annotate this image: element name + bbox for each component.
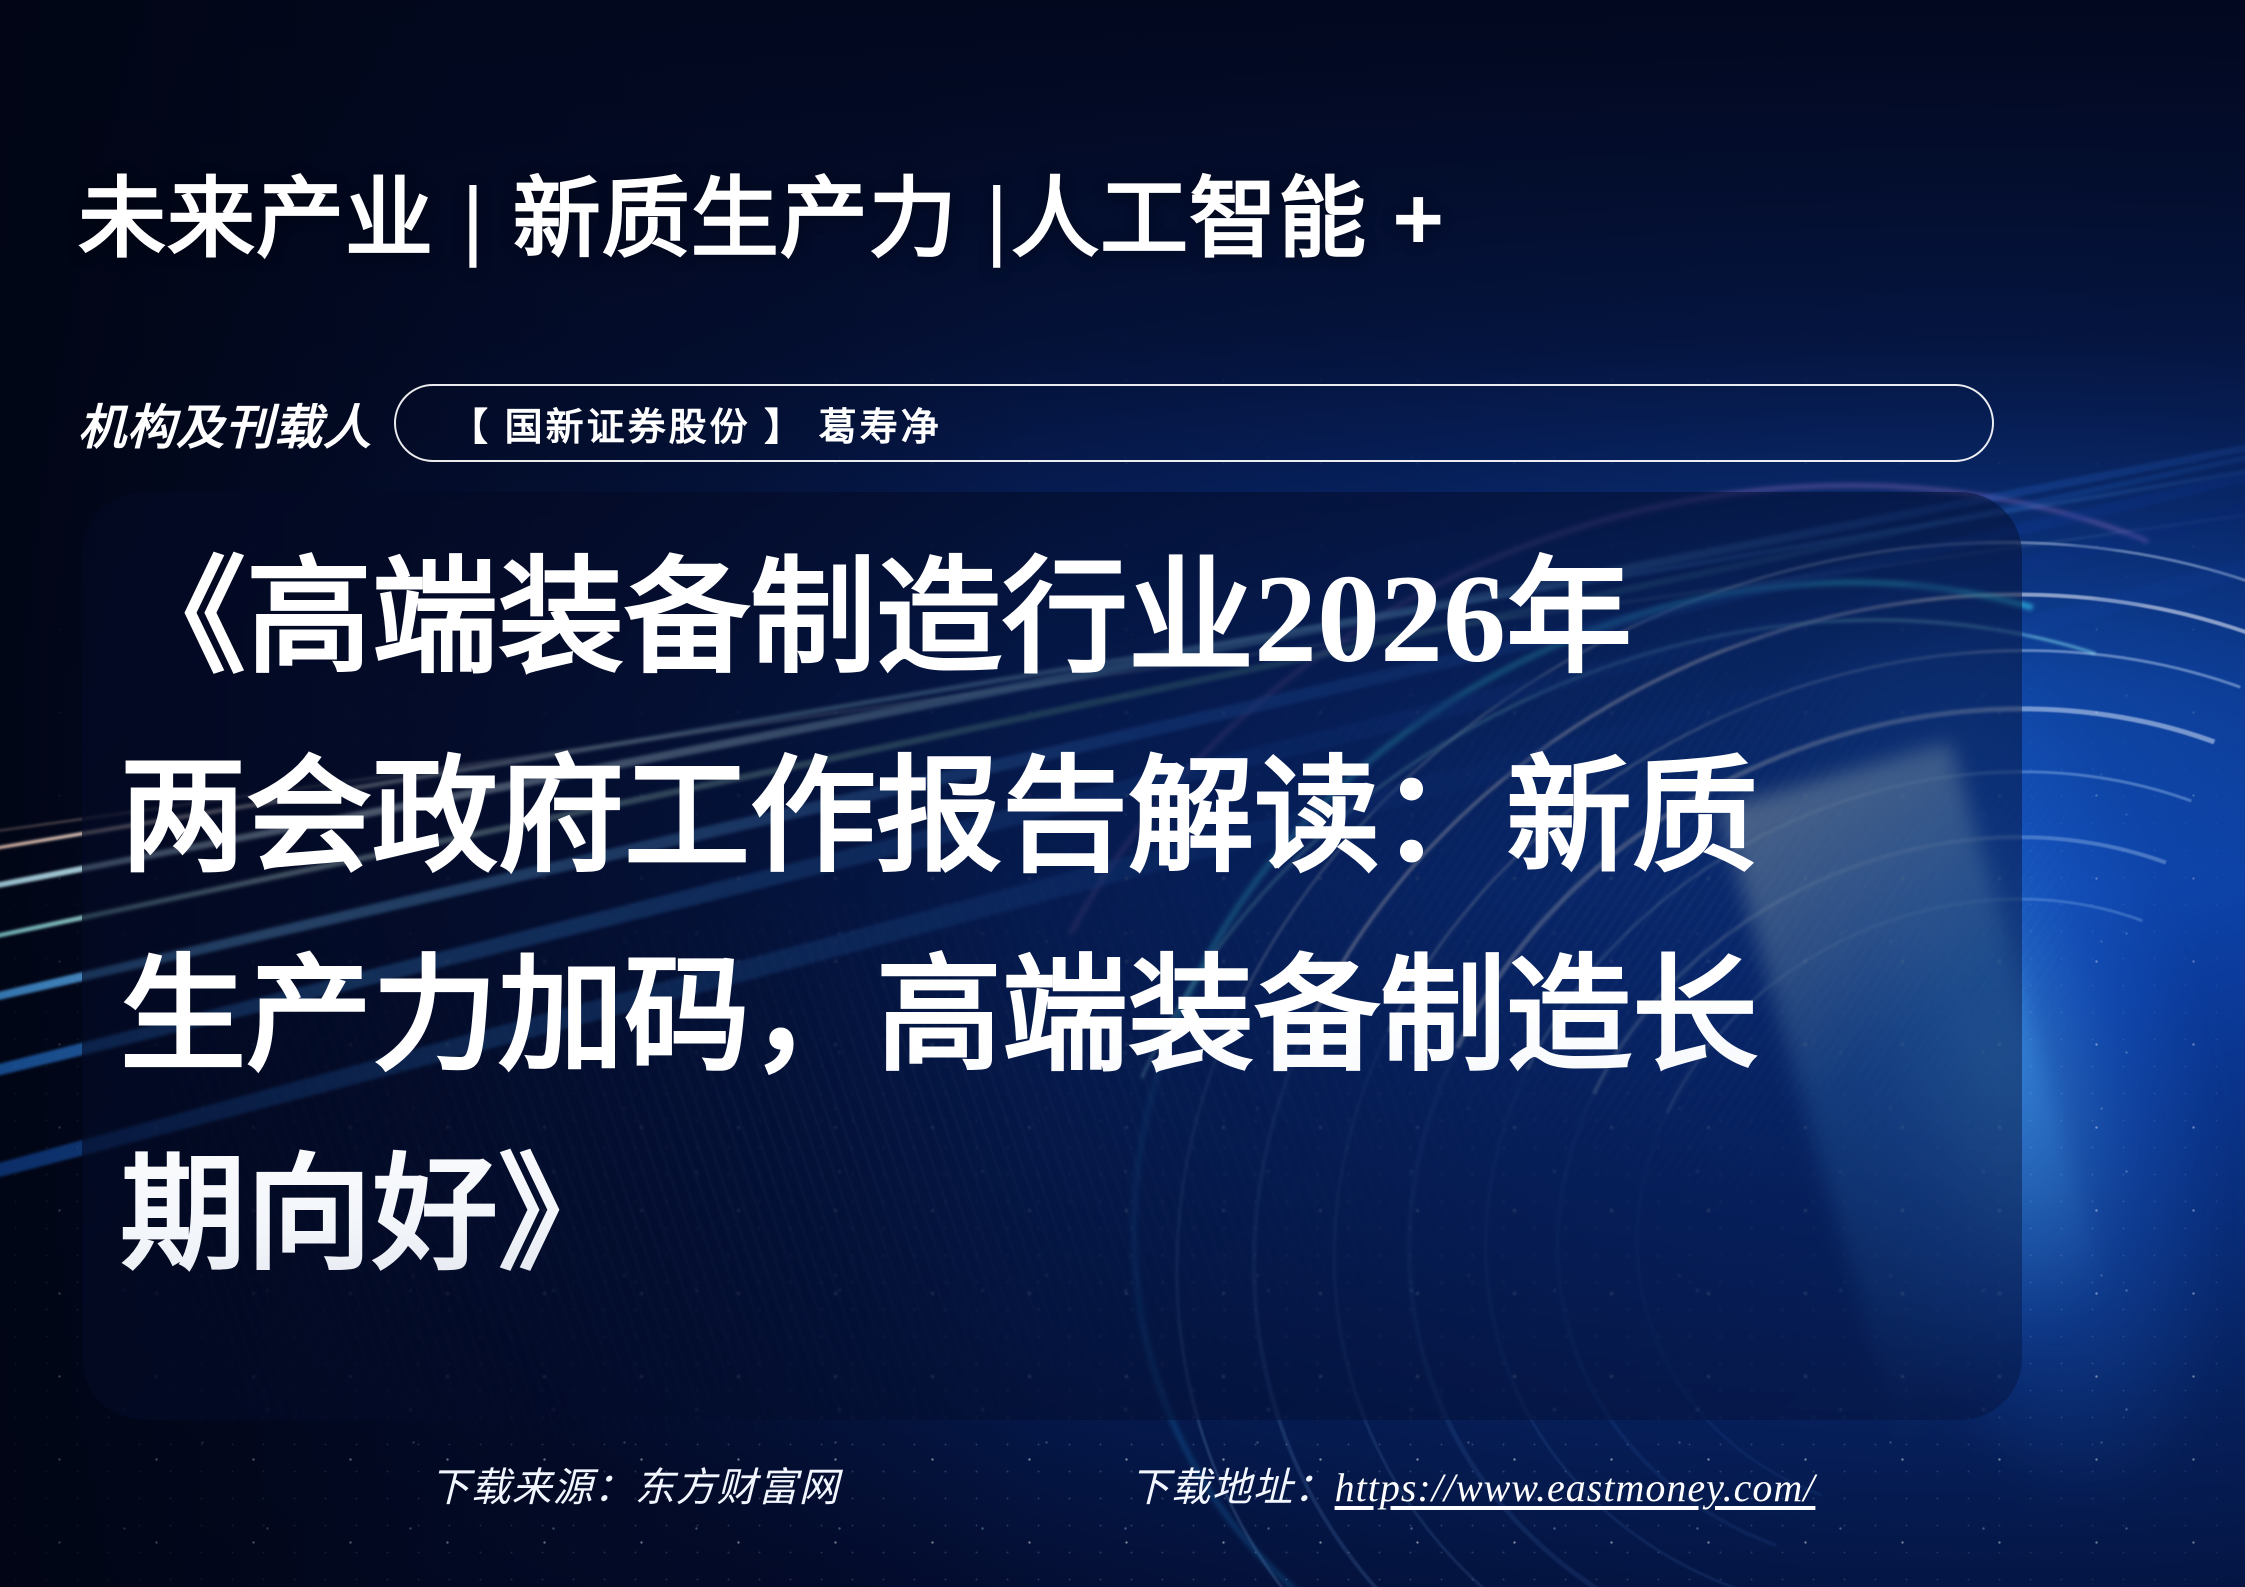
headline-separator-2: | — [983, 169, 1011, 268]
headline-part-2: 新质生产力 — [513, 169, 958, 268]
institution-pill: 【 国新证券股份 】 葛寿净 — [394, 384, 1994, 462]
report-title-line-1: 《高端装备制造行业2026年 — [120, 520, 2000, 719]
institution-pill-text: 【 国新证券股份 】 葛寿净 — [450, 396, 942, 451]
institution-meta-row: 机构及刊载人 【 国新证券股份 】 葛寿净 — [78, 378, 1994, 468]
download-address-label: 下载地址： — [1130, 1465, 1335, 1510]
poster-canvas: 未来产业 | 新质生产力 |人工智能 + 机构及刊载人 【 国新证券股份 】 葛… — [0, 0, 2245, 1587]
report-title-line-2: 两会政府工作报告解读：新质 — [120, 719, 2000, 918]
footer-bar: 下载来源：东方财富网 下载地址：https://www.eastmoney.co… — [0, 1452, 2245, 1516]
headline-part-1: 未来产业 — [78, 169, 434, 268]
download-address: 下载地址：https://www.eastmoney.com/ — [1130, 1455, 1816, 1513]
download-source: 下载来源：东方财富网 — [430, 1455, 840, 1513]
poster-content: 未来产业 | 新质生产力 |人工智能 + 机构及刊载人 【 国新证券股份 】 葛… — [0, 0, 2245, 1587]
headline-separator-1: | — [459, 169, 487, 268]
eastmoney-link[interactable]: https://www.eastmoney.com/ — [1335, 1465, 1816, 1510]
page-title: 未来产业 | 新质生产力 |人工智能 + — [78, 170, 1445, 269]
report-title-line-4: 期向好》 — [120, 1117, 2000, 1316]
headline-part-3: 人工智能 + — [1011, 169, 1445, 268]
report-title-line-3: 生产力加码，高端装备制造长 — [120, 918, 2000, 1117]
institution-meta-label: 机构及刊载人 — [78, 388, 372, 458]
report-title: 《高端装备制造行业2026年 两会政府工作报告解读：新质 生产力加码，高端装备制… — [120, 520, 2000, 1316]
